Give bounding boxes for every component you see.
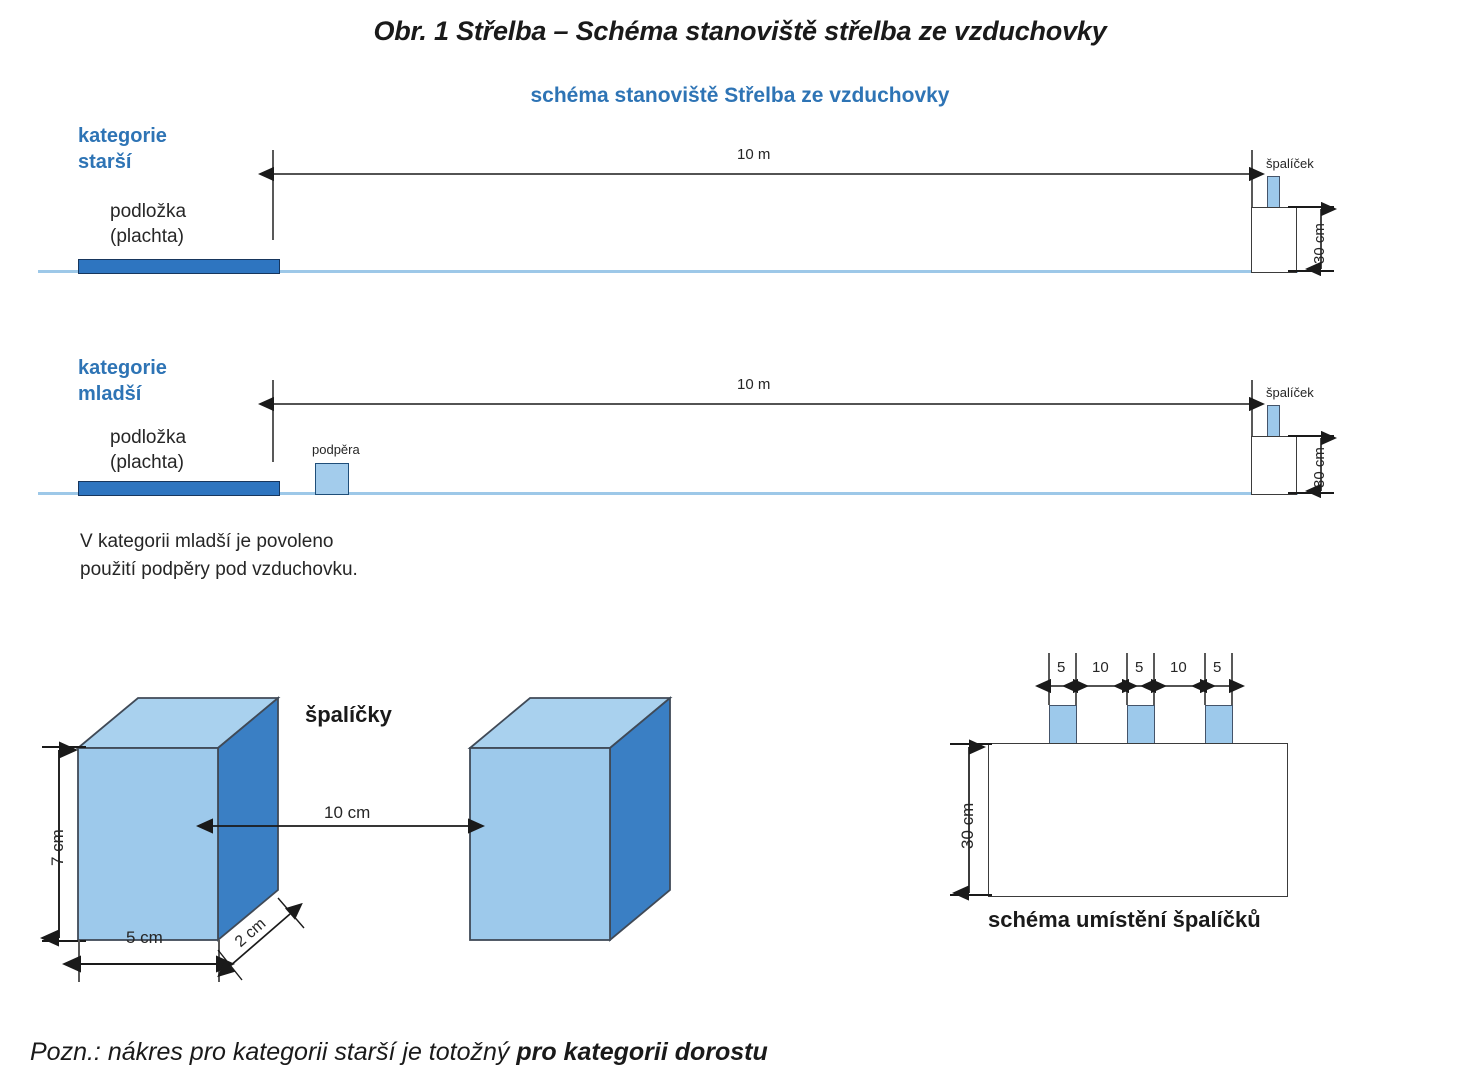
peg-label-older: špalíček: [1266, 156, 1314, 171]
peg-older: [1267, 176, 1280, 211]
placement-table: [988, 743, 1288, 897]
mat-label-younger-line1: podložka: [110, 427, 186, 448]
footnote-bold-text: pro kategorii dorostu: [516, 1038, 767, 1066]
distance-label-older: 10 m: [737, 146, 770, 163]
placement-dim-label-2: 5: [1135, 659, 1143, 676]
peg-detail-title: špalíčky: [305, 702, 392, 728]
placement-height-label: 30 cm: [958, 803, 978, 849]
placement-peg-3: [1205, 705, 1233, 747]
dimension-extension-left-older: [272, 150, 274, 240]
mat-younger: [78, 481, 280, 496]
mat-label-older-line2: (plachta): [110, 226, 184, 247]
support-note-line1: V kategorii mladší je povoleno: [80, 531, 333, 552]
figure-subtitle: schéma stanoviště Střelba ze vzduchovky: [0, 84, 1480, 108]
distance-arrow-older: [272, 166, 1252, 182]
placement-peg-2: [1127, 705, 1155, 747]
peg-detail-diagram: špalíčky 7 cm 5 cm 2 cm 10 cm: [0, 640, 740, 980]
footnote-normal-text: Pozn.: nákres pro kategorii starší je to…: [30, 1038, 516, 1066]
height-label-older: 30 cm: [1311, 223, 1328, 264]
peg-height-label: 7 cm: [48, 829, 68, 866]
category-label-younger-line2: mladší: [78, 383, 141, 405]
placement-dim-label-4: 5: [1213, 659, 1221, 676]
peg-cube-right: [470, 698, 670, 958]
placement-diagram: 5 10 5 10 5 30 cm schéma umístění špalíč…: [930, 645, 1350, 945]
placement-peg-1: [1049, 705, 1077, 747]
support-note: V kategorii mladší je povoleno použití p…: [80, 528, 358, 583]
height-label-younger: 30 cm: [1311, 447, 1328, 488]
category-label-older-line2: starší: [78, 151, 131, 173]
table-older: [1251, 207, 1297, 273]
category-label-older-line1: kategorie: [78, 125, 167, 147]
category-label-younger: kategorie mladší: [78, 356, 167, 407]
mat-label-older-line1: podložka: [110, 201, 186, 222]
peg-width-label: 5 cm: [126, 928, 163, 948]
table-younger: [1251, 436, 1297, 495]
distance-arrow-younger: [272, 396, 1252, 412]
peg-gap-label: 10 cm: [324, 803, 370, 823]
support-note-line2: použití podpěry pod vzduchovku.: [80, 559, 358, 580]
peg-younger: [1267, 405, 1280, 440]
peg-depth-dimension: [212, 888, 322, 988]
placement-dim-arrows: [1048, 678, 1238, 694]
placement-dim-label-1: 10: [1092, 659, 1109, 676]
category-label-older: kategorie starší: [78, 124, 167, 175]
placement-dim-label-0: 5: [1057, 659, 1065, 676]
placement-caption: schéma umístění špalíčků: [988, 907, 1261, 933]
range-diagram-older: kategorie starší podložka (plachta) 10 m…: [0, 118, 1480, 293]
dimension-extension-left-younger: [272, 380, 274, 462]
mat-label-younger: podložka (plachta): [110, 426, 186, 475]
placement-dim-label-3: 10: [1170, 659, 1187, 676]
range-diagram-younger: kategorie mladší podložka (plachta) podp…: [0, 350, 1480, 525]
mat-label-younger-line2: (plachta): [110, 452, 184, 473]
support-block-younger: [315, 463, 349, 495]
mat-label-older: podložka (plachta): [110, 200, 186, 249]
distance-label-younger: 10 m: [737, 376, 770, 393]
category-label-younger-line1: kategorie: [78, 357, 167, 379]
support-label-younger: podpěra: [312, 442, 360, 457]
figure-footnote: Pozn.: nákres pro kategorii starší je to…: [30, 1038, 768, 1067]
figure-title: Obr. 1 Střelba – Schéma stanoviště střel…: [0, 16, 1480, 47]
mat-older: [78, 259, 280, 274]
peg-width-arrow: [78, 956, 220, 972]
peg-label-younger: špalíček: [1266, 385, 1314, 400]
